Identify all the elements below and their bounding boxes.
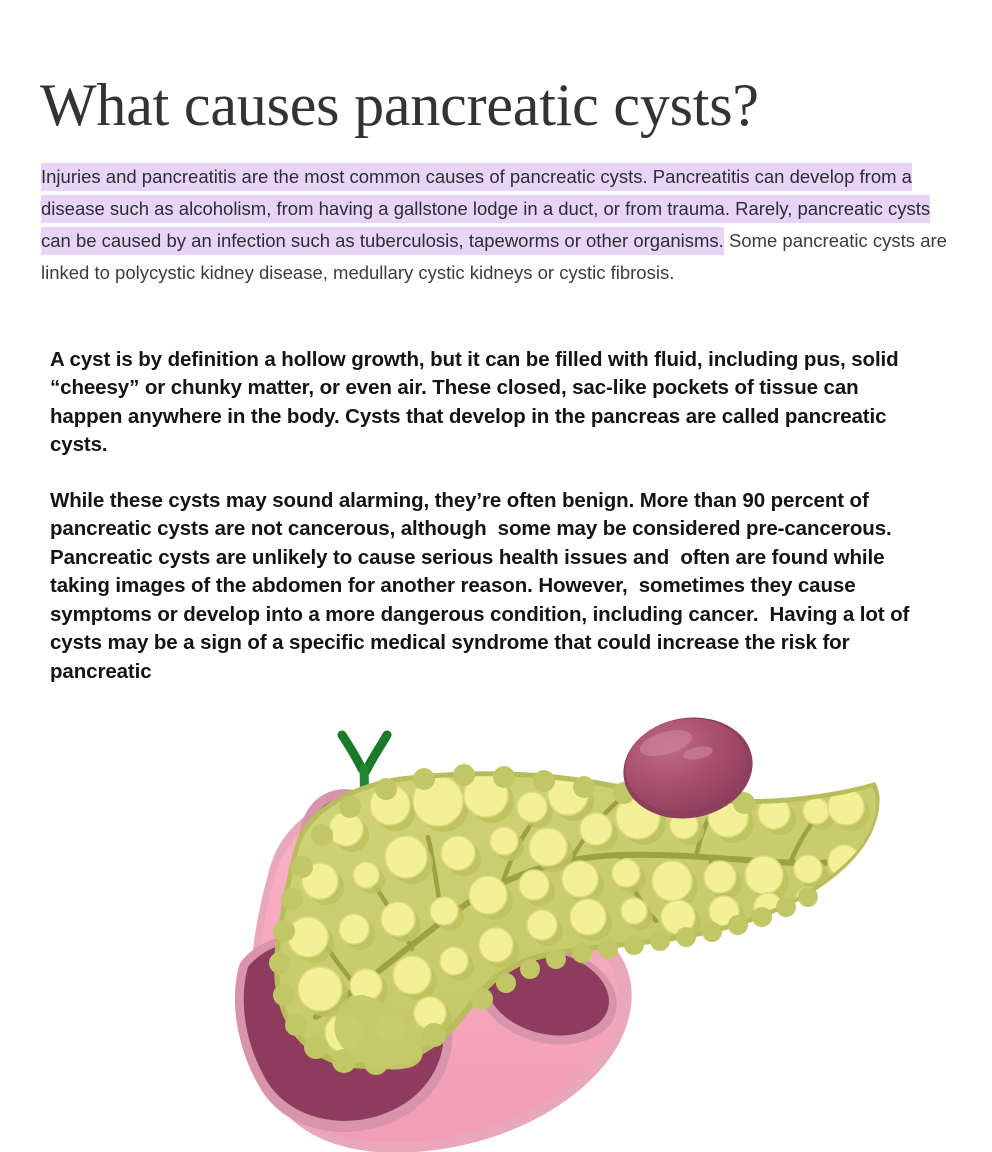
body-paragraph-1: A cyst is by definition a hollow growth,…: [50, 346, 930, 460]
intro-paragraph: Injuries and pancreatitis are the most c…: [41, 161, 959, 289]
article-page: What causes pancreatic cysts? Injuries a…: [0, 0, 992, 1152]
page-title: What causes pancreatic cysts?: [40, 68, 960, 142]
body-paragraph-2: While these cysts may sound alarming, th…: [50, 487, 930, 687]
pancreas-with-cysts-anatomy-illustration: [150, 695, 890, 1152]
